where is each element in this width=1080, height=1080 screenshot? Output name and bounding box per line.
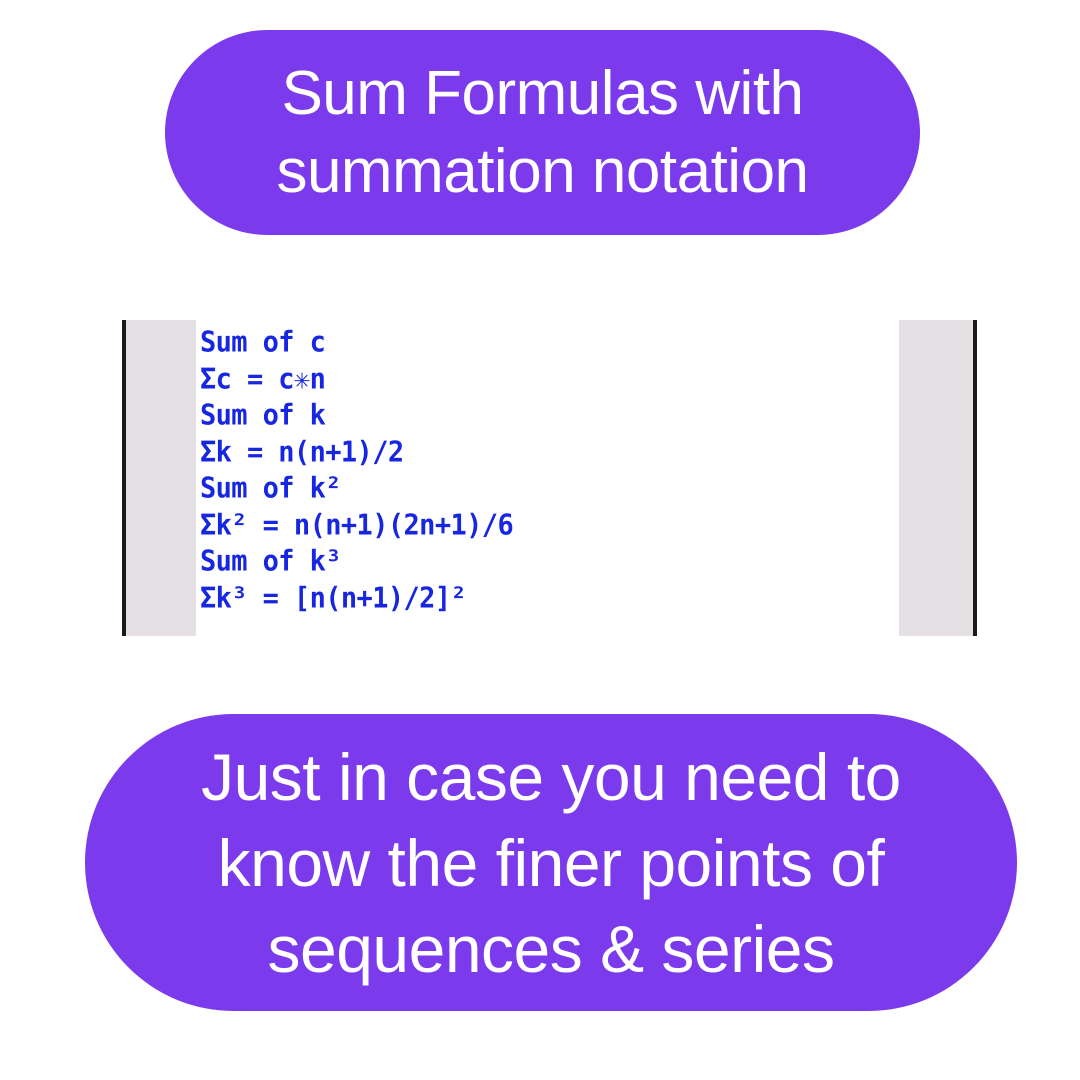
slide-canvas: Sum Formulas withsummation notation Sum …	[0, 0, 1080, 1080]
formula-line-sigma-k2: Σk² = n(n+1)(2n+1)/6	[200, 507, 897, 546]
caption-bottom-line-3: sequences & series	[268, 912, 835, 986]
caption-top-line-1: Sum Formulas with	[281, 59, 803, 128]
formula-line-sum-of-k: Sum of k	[200, 397, 897, 436]
formula-line-sigma-c: Σc = c✳n	[200, 361, 897, 400]
screen-left-gutter	[126, 320, 196, 636]
calculator-screen: Sum of c Σc = c✳n Sum of k Σk = n(n+1)/2…	[122, 320, 977, 636]
caption-bottom-line-2: know the finer points of	[218, 826, 885, 900]
caption-top-line-2: summation notation	[276, 137, 808, 206]
screen-right-gutter	[899, 320, 973, 636]
caption-banner-top: Sum Formulas withsummation notation	[165, 30, 920, 235]
formula-line-sigma-k3: Σk³ = [n(n+1)/2]²	[200, 580, 897, 619]
formula-line-sigma-k: Σk = n(n+1)/2	[200, 434, 897, 473]
caption-banner-bottom: Just in case you need toknow the finer p…	[85, 714, 1017, 1011]
screen-right-border	[973, 320, 977, 636]
formula-line-sum-of-c: Sum of c	[200, 324, 897, 363]
caption-bottom-line-1: Just in case you need to	[201, 740, 901, 814]
formula-line-sum-of-k3: Sum of k³	[200, 543, 897, 582]
caption-bottom-text: Just in case you need toknow the finer p…	[125, 734, 977, 992]
caption-top-text: Sum Formulas withsummation notation	[199, 55, 886, 211]
formula-line-sum-of-k2: Sum of k²	[200, 470, 897, 509]
formula-list: Sum of c Σc = c✳n Sum of k Σk = n(n+1)/2…	[200, 324, 897, 636]
